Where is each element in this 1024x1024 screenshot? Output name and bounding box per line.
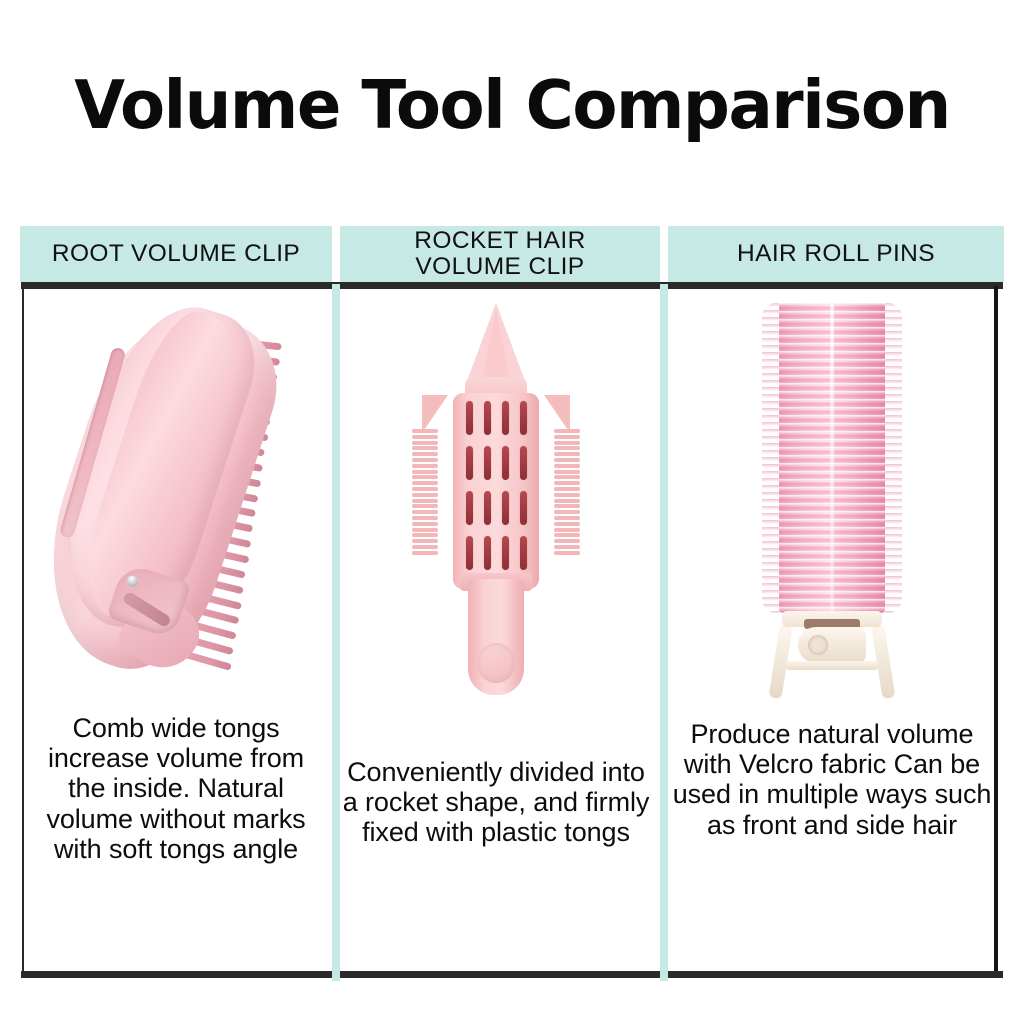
rocket-teeth-right	[554, 429, 580, 557]
product-image-root-volume-clip	[20, 289, 332, 699]
header-divider-1	[332, 226, 340, 282]
clip-crossbar	[786, 661, 878, 670]
rocket-vent-slots	[460, 401, 532, 581]
column-header-hair-roll-pins: HAIR ROLL PINS	[668, 226, 1004, 282]
roller-seam	[830, 303, 834, 613]
comparison-table: ROOT VOLUME CLIP ROCKET HAIR VOLUME CLIP…	[20, 226, 1004, 978]
rocket-fin-left	[422, 395, 448, 433]
product-image-rocket-hair-volume-clip	[332, 289, 660, 709]
comparison-infographic: Volume Tool Comparison ROOT VOLUME CLIP …	[0, 0, 1024, 1024]
product-caption: Comb wide tongs increase volume from the…	[20, 713, 332, 864]
product-caption: Conveniently divided into a rocket shape…	[332, 757, 660, 848]
table-body: Comb wide tongs increase volume from the…	[20, 289, 1004, 975]
header-divider-2	[660, 226, 668, 282]
product-image-hair-roll-pins	[660, 289, 1004, 709]
roller-clip-base	[774, 607, 890, 699]
page-title: Volume Tool Comparison	[10, 72, 1014, 139]
column-header-rocket-hair-volume-clip: ROCKET HAIR VOLUME CLIP	[340, 226, 660, 282]
column-header-label-line2: VOLUME CLIP	[414, 254, 585, 280]
pink-comb-volume-hair-clip-icon	[51, 307, 301, 687]
rocket-handle-grip	[477, 643, 515, 683]
comparison-column-root-volume-clip: Comb wide tongs increase volume from the…	[20, 289, 332, 975]
rocket-teeth-left	[412, 429, 438, 557]
column-header-label: ROOT VOLUME CLIP	[52, 241, 300, 267]
rocket-cone-shade	[482, 309, 510, 381]
comparison-column-hair-roll-pins: Produce natural volume with Velcro fabri…	[660, 289, 1004, 975]
column-header-label-line1: ROCKET HAIR	[414, 228, 585, 254]
column-header-root-volume-clip: ROOT VOLUME CLIP	[20, 226, 332, 282]
table-header-row: ROOT VOLUME CLIP ROCKET HAIR VOLUME CLIP…	[20, 226, 1004, 282]
clip-hole	[808, 635, 828, 655]
product-caption: Produce natural volume with Velcro fabri…	[660, 719, 1004, 840]
rocket-fin-right	[544, 395, 570, 433]
pink-rocket-shaped-volume-clip-icon	[416, 303, 576, 703]
pink-velcro-hair-roller-pin-icon	[742, 295, 922, 705]
column-header-label: HAIR ROLL PINS	[737, 241, 935, 267]
comparison-column-rocket-hair-volume-clip: Conveniently divided into a rocket shape…	[332, 289, 660, 975]
